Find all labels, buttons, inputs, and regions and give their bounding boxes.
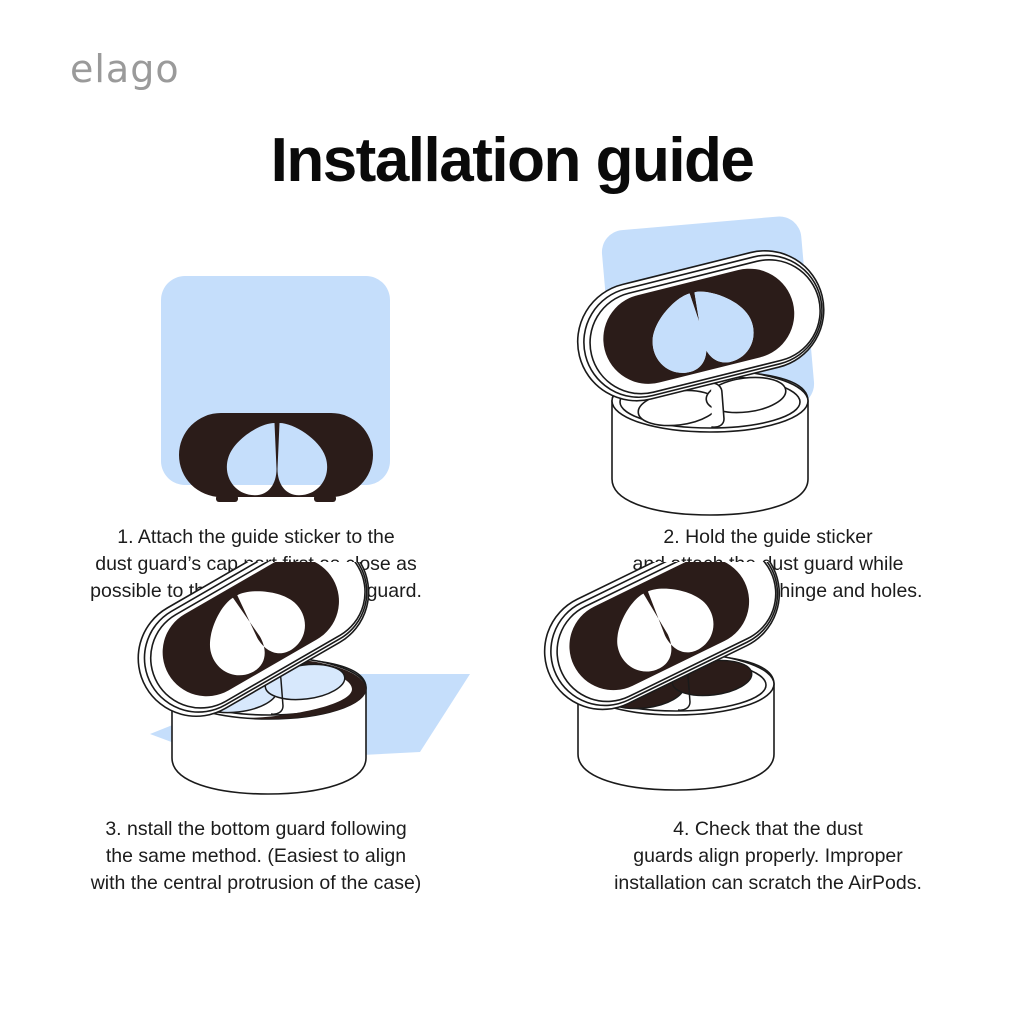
page-title: Installation guide xyxy=(0,128,1024,193)
step-2: 2. Hold the guide sticker and attach the… xyxy=(512,215,1024,605)
step-3-caption: 3. nstall the bottom guard following the… xyxy=(0,816,512,897)
step-3: 3. nstall the bottom guard following the… xyxy=(0,562,512,897)
installation-guide-page: elago Installation guide xyxy=(0,0,1024,1024)
step-3-figure xyxy=(0,562,512,812)
step-4-figure xyxy=(512,562,1024,812)
step-4: 4. Check that the dust guards align prop… xyxy=(512,562,1024,897)
guard-tab-right xyxy=(314,495,336,502)
caption-line: the same method. (Easiest to align xyxy=(0,843,512,870)
caption-line: 3. nstall the bottom guard following xyxy=(0,816,512,843)
dust-guard-cap-shape xyxy=(179,413,373,502)
caption-line: with the central protrusion of the case) xyxy=(0,870,512,897)
case-central-protrusion xyxy=(711,383,724,427)
caption-line: 4. Check that the dust xyxy=(512,816,1024,843)
step-4-caption: 4. Check that the dust guards align prop… xyxy=(512,816,1024,897)
caption-line: 2. Hold the guide sticker xyxy=(512,524,1024,551)
caption-line: 1. Attach the guide sticker to the xyxy=(0,524,512,551)
step-2-figure xyxy=(512,215,1024,520)
caption-line: guards align properly. Improper xyxy=(512,843,1024,870)
step-1: 1. Attach the guide sticker to the dust … xyxy=(0,215,512,605)
caption-line: installation can scratch the AirPods. xyxy=(512,870,1024,897)
guard-tab-left xyxy=(216,495,238,502)
brand-logo: elago xyxy=(70,50,180,88)
step-1-figure xyxy=(0,215,512,520)
